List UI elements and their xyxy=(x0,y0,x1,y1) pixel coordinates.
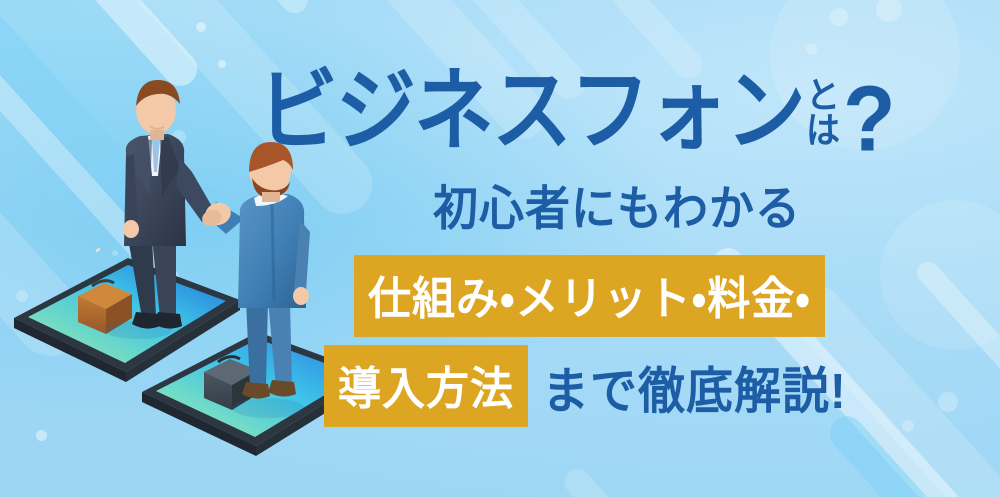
title-toha-stack: と は xyxy=(806,80,840,150)
title-main-text: ビジネスフォン xyxy=(258,69,804,154)
banner-root: ビジネスフォン と は ? 初心者にもわかる 仕組み・メリット・料金・ 導入方法… xyxy=(0,0,1000,497)
title-stack-line-2: は xyxy=(806,115,840,150)
subheadline: 初心者にもわかる xyxy=(258,170,958,239)
headline-block: ビジネスフォン と は ? 初心者にもわかる 仕組み・メリット・料金・ 導入方法… xyxy=(258,78,958,438)
page-title: ビジネスフォン と は ? xyxy=(258,78,958,154)
highlight-trailing-text-2: まで徹底解説! xyxy=(542,350,847,422)
title-question-mark: ? xyxy=(843,82,896,156)
highlight-row-1: 仕組み・メリット・料金・ xyxy=(258,257,958,335)
title-stack-line-1: と xyxy=(806,80,840,115)
highlight-band-1: 仕組み・メリット・料金・ xyxy=(354,255,825,337)
highlight-row-2: 導入方法 まで徹底解説! xyxy=(258,347,958,425)
highlight-band-2: 導入方法 xyxy=(324,345,528,427)
